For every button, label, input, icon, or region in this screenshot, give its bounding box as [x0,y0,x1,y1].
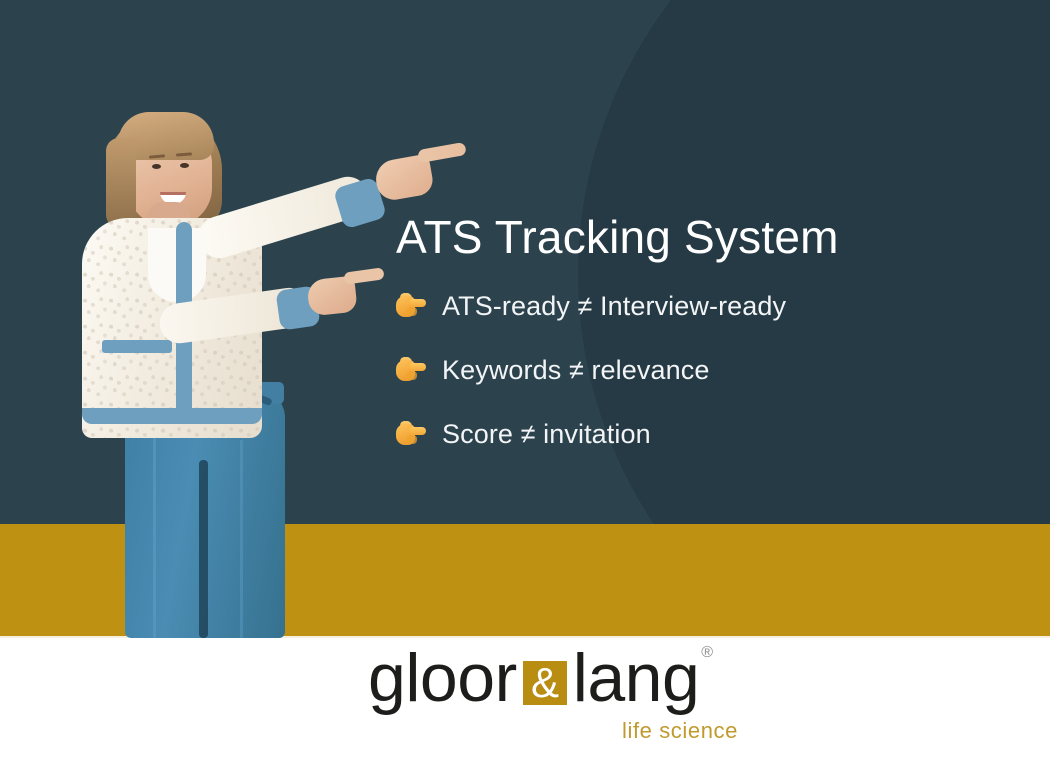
bullet-text: ATS-ready ≠ Interview-ready [442,291,786,322]
leg-separation-shadow [199,460,208,638]
lower-pointing-finger [343,267,384,284]
logo-tagline: life science [622,718,738,744]
bullet-item: Keywords ≠ relevance [396,355,936,386]
slide-title: ATS Tracking System [396,212,936,263]
upper-pointing-finger [417,142,467,163]
logo-ampersand-badge: & [523,661,567,705]
eye-left [152,164,161,169]
logo-text-lang: lang [573,644,700,712]
pointing-right-hand-icon [396,419,428,449]
brand-logo: gloor & lang ® life science [368,644,748,744]
bullet-item: ATS-ready ≠ Interview-ready [396,291,936,322]
hair-side-left [106,138,136,230]
registered-trademark-icon: ® [701,645,712,661]
logo-wordmark: gloor & lang ® [368,644,748,710]
jacket-pocket-trim [102,340,172,353]
bullet-text: Keywords ≠ relevance [442,355,709,386]
pointing-right-hand-icon [396,355,428,385]
bullet-item: Score ≠ invitation [396,419,936,450]
eye-right [180,163,189,168]
bullet-list: ATS-ready ≠ Interview-ready Keywords ≠ r… [396,291,936,450]
pointing-right-hand-icon [396,291,428,321]
content-block: ATS Tracking System ATS-ready ≠ Intervie… [396,212,936,450]
slide-canvas: ATS Tracking System ATS-ready ≠ Intervie… [0,0,1050,760]
bullet-text: Score ≠ invitation [442,419,651,450]
logo-text-gloor: gloor [368,644,517,712]
jacket-hem-trim [82,408,262,424]
leg-crease-right [240,440,243,638]
leg-crease-left [153,430,156,638]
